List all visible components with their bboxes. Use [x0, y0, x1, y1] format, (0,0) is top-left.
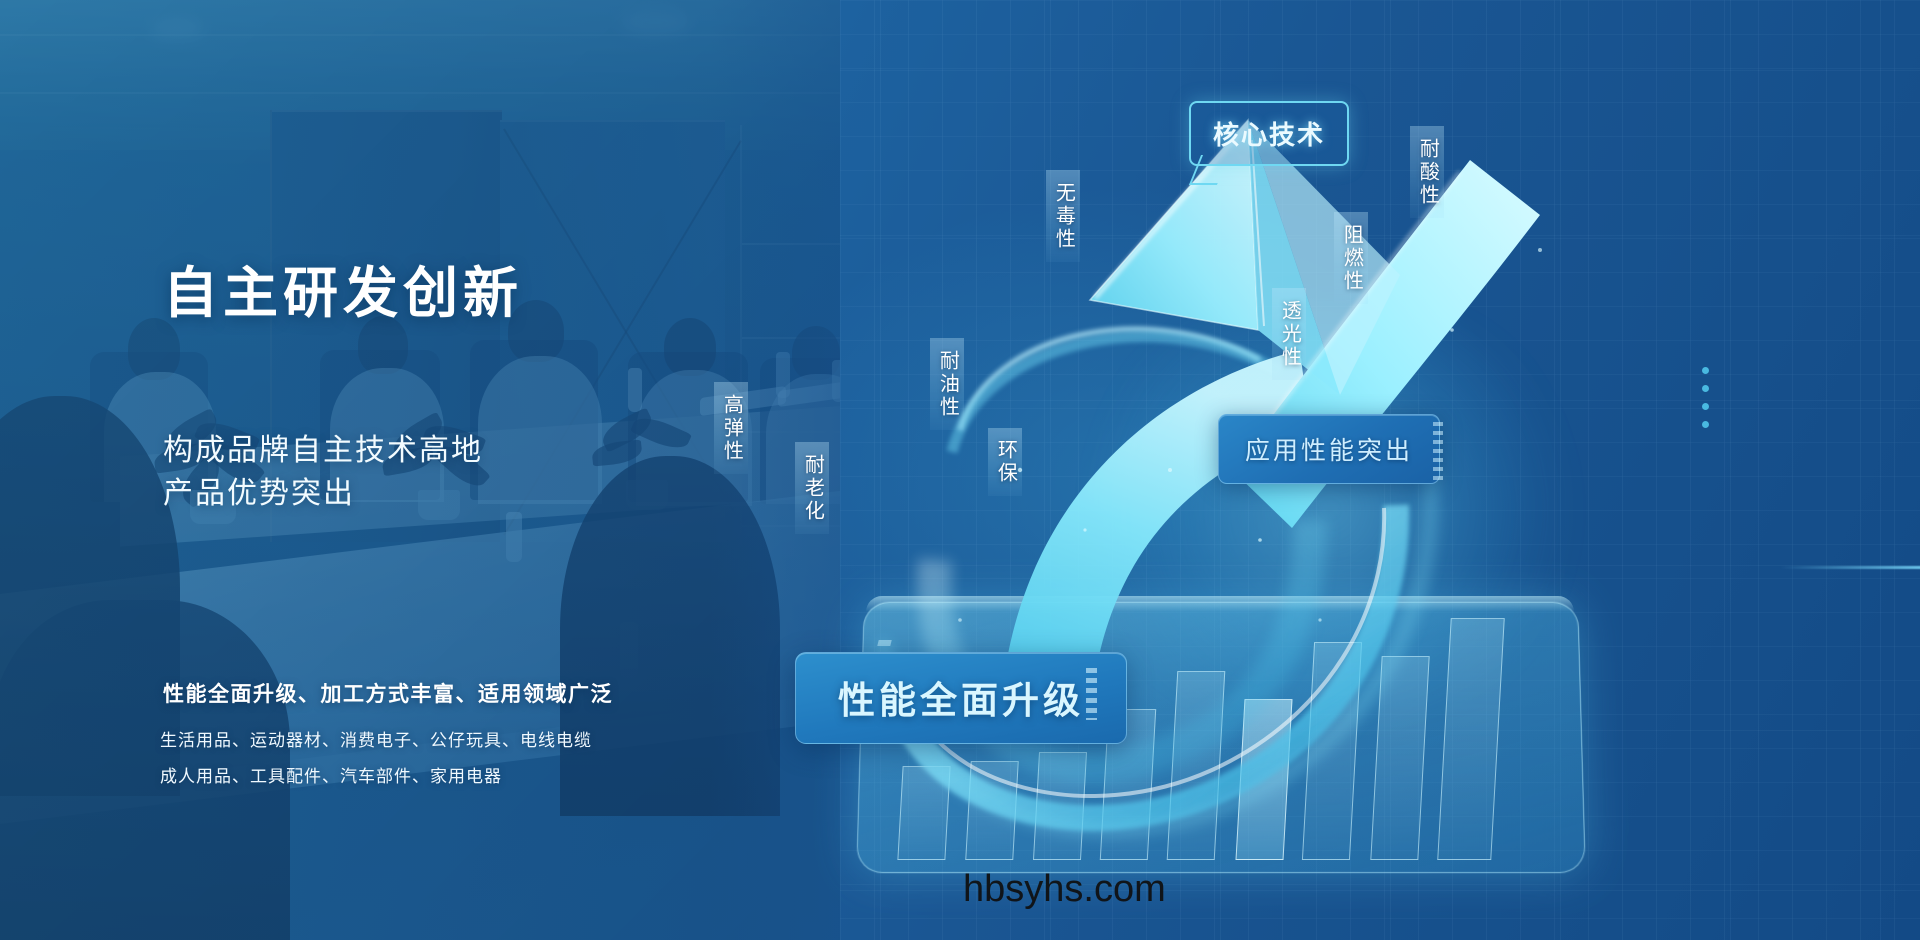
property-tag-huanbao[interactable]: 环保 — [988, 428, 1022, 496]
property-tag-zuranxing[interactable]: 阻燃性 — [1334, 212, 1368, 304]
application-line-2: 成人用品、工具配件、汽车部件、家用电器 — [160, 759, 592, 795]
application-list: 生活用品、运动器材、消费电子、公仔玩具、电线电缆 成人用品、工具配件、汽车部件、… — [160, 723, 592, 794]
ribbon-dash-accent — [1086, 668, 1097, 720]
property-tag-naiyouxing[interactable]: 耐油性 — [930, 338, 964, 430]
property-tag-naisuanxing[interactable]: 耐酸性 — [1410, 126, 1444, 218]
property-tag-gaotanxing[interactable]: 高弹性 — [714, 382, 748, 474]
site-watermark: hbsyhs.com — [963, 868, 1166, 911]
property-tag-nailaohua[interactable]: 耐老化 — [795, 442, 829, 534]
hero-subtitle-line1: 构成品牌自主技术高地 — [163, 430, 483, 473]
feature-headline: 性能全面升级、加工方式丰富、适用领域广泛 — [163, 678, 613, 708]
property-tag-touguangxing[interactable]: 透光性 — [1272, 288, 1306, 380]
property-tag-wutuxing[interactable]: 无毒性 — [1046, 170, 1080, 262]
application-line-1: 生活用品、运动器材、消费电子、公仔玩具、电线电缆 — [160, 723, 592, 759]
hero-subtitle: 构成品牌自主技术高地 产品优势突出 — [163, 430, 483, 515]
button-dash-decor — [1433, 422, 1443, 480]
horizontal-accent-line — [1780, 566, 1920, 569]
promo-banner: 核心技术 应用性能突出 性能全面升级 无毒性 耐酸性 阻燃性 透光性 耐油性 高… — [0, 0, 1920, 940]
hero-subtitle-line2: 产品优势突出 — [163, 473, 483, 516]
application-performance-button[interactable]: 应用性能突出 — [1218, 414, 1440, 484]
dot-decoration — [1702, 367, 1709, 439]
page-title: 自主研发创新 — [163, 248, 523, 328]
performance-upgrade-ribbon: 性能全面升级 — [795, 652, 1127, 744]
